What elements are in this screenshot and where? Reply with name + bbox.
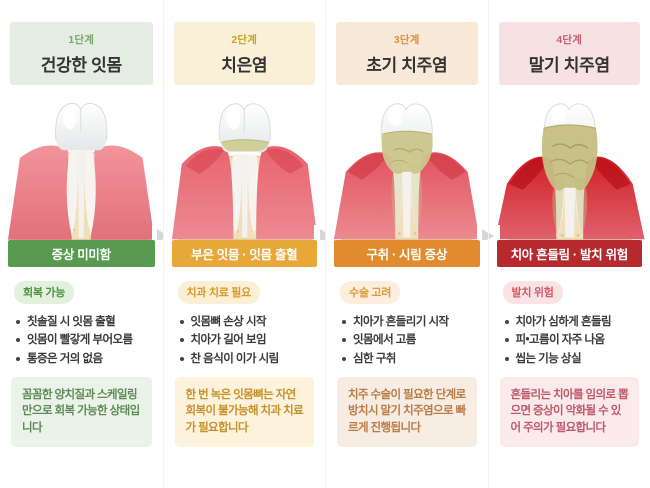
symptom-list-4: 치아가 심하게 흔들림 피•고름이 자주 나옴 씹는 기능 상실	[489, 304, 650, 366]
status-badge-2: 치과 치료 필요	[178, 281, 260, 304]
tag-wrap-3: 수술 고려	[326, 267, 488, 304]
advice-note-1: 꼼꼼한 양치질과 스케일링만으로 회복 가능한 상태입니다	[11, 377, 152, 447]
triangle-right-icon	[314, 225, 325, 240]
stage-label-2: 2단계	[231, 32, 257, 47]
triangle-right-icon	[152, 225, 163, 240]
stage-header-1: 1단계 건강한 잇몸	[10, 22, 153, 85]
stage-label-1: 1단계	[68, 32, 94, 47]
stage-column-4: 4단계 말기 치주염	[488, 0, 650, 488]
status-badge-4: 발치 위험	[503, 281, 563, 304]
tag-wrap-4: 발치 위험	[489, 267, 650, 304]
tag-wrap-1: 회복 가능	[0, 267, 163, 304]
stage-header-2: 2단계 치은염	[174, 22, 316, 85]
advice-note-3: 치주 수술이 필요한 단계로 방치시 말기 치주염으로 빠르게 진행됩니다	[337, 377, 477, 447]
stage-label-4: 4단계	[556, 32, 582, 47]
triangle-right-icon	[489, 225, 500, 240]
stage-label-3: 3단계	[394, 32, 420, 47]
list-item: 치아가 길어 보임	[180, 333, 318, 347]
status-bar-1: 증상 미미함	[8, 240, 155, 267]
tag-wrap-2: 치과 치료 필요	[164, 267, 326, 304]
stage-column-3: 3단계 초기 치주염	[325, 0, 488, 488]
list-item: 찬 음식이 이가 시림	[180, 352, 318, 366]
stage-title-3: 초기 치주염	[366, 51, 447, 76]
symptom-list-3: 치아가 흔들리기 시작 잇몸에서 고름 심한 구취	[326, 304, 488, 366]
gum-disease-stages-infographic: 1단계 건강한 잇몸	[0, 0, 650, 488]
list-item: 통증은 거의 없음	[16, 352, 155, 366]
list-item: 잇몸이 빨갛게 부어오름	[16, 333, 155, 347]
stage-column-1: 1단계 건강한 잇몸	[0, 0, 163, 488]
symptom-list-2: 잇몸뼈 손상 시작 치아가 길어 보임 찬 음식이 이가 시림	[164, 304, 326, 366]
list-item: 피•고름이 자주 나옴	[505, 333, 643, 347]
symptom-list-1: 칫솔질 시 잇몸 출혈 잇몸이 빨갛게 부어오름 통증은 거의 없음	[0, 304, 163, 366]
advice-note-2: 한 번 녹은 잇몸뼈는 자연 회복이 불가능해 치과 치료가 필요합니다	[175, 377, 315, 447]
list-item: 씹는 기능 상실	[505, 352, 643, 366]
status-bar-4: 치아 흔들림 · 발치 위험	[497, 240, 643, 267]
list-item: 치아가 심하게 흔들림	[505, 315, 643, 329]
advice-note-4: 흔들리는 치아를 임의로 뽑으면 증상이 악화될 수 있어 주의가 필요합니다	[500, 377, 640, 447]
status-badge-3: 수술 고려	[340, 281, 400, 304]
list-item: 잇몸에서 고름	[342, 333, 480, 347]
status-bar-3: 구취 · 시림 증상	[334, 240, 480, 267]
list-item: 치아가 흔들리기 시작	[342, 315, 480, 329]
stage-header-3: 3단계 초기 치주염	[336, 22, 478, 85]
status-badge-1: 회복 가능	[14, 281, 74, 304]
gingivitis-tooth-illustration	[164, 88, 326, 240]
stage-column-2: 2단계 치은염	[163, 0, 326, 488]
stage-header-4: 4단계 말기 치주염	[499, 22, 641, 85]
status-bar-2: 부은 잇몸 · 잇몸 출혈	[172, 240, 318, 267]
list-item: 심한 구취	[342, 352, 480, 366]
stage-title-1: 건강한 잇몸	[41, 51, 122, 76]
healthy-tooth-illustration	[0, 88, 163, 240]
list-item: 칫솔질 시 잇몸 출혈	[16, 315, 155, 329]
stage-title-2: 치은염	[221, 51, 267, 76]
advanced-periodontitis-tooth-illustration	[489, 88, 650, 240]
triangle-right-icon	[477, 225, 488, 240]
early-periodontitis-tooth-illustration	[326, 88, 488, 240]
list-item: 잇몸뼈 손상 시작	[180, 315, 318, 329]
stage-title-4: 말기 치주염	[529, 51, 610, 76]
